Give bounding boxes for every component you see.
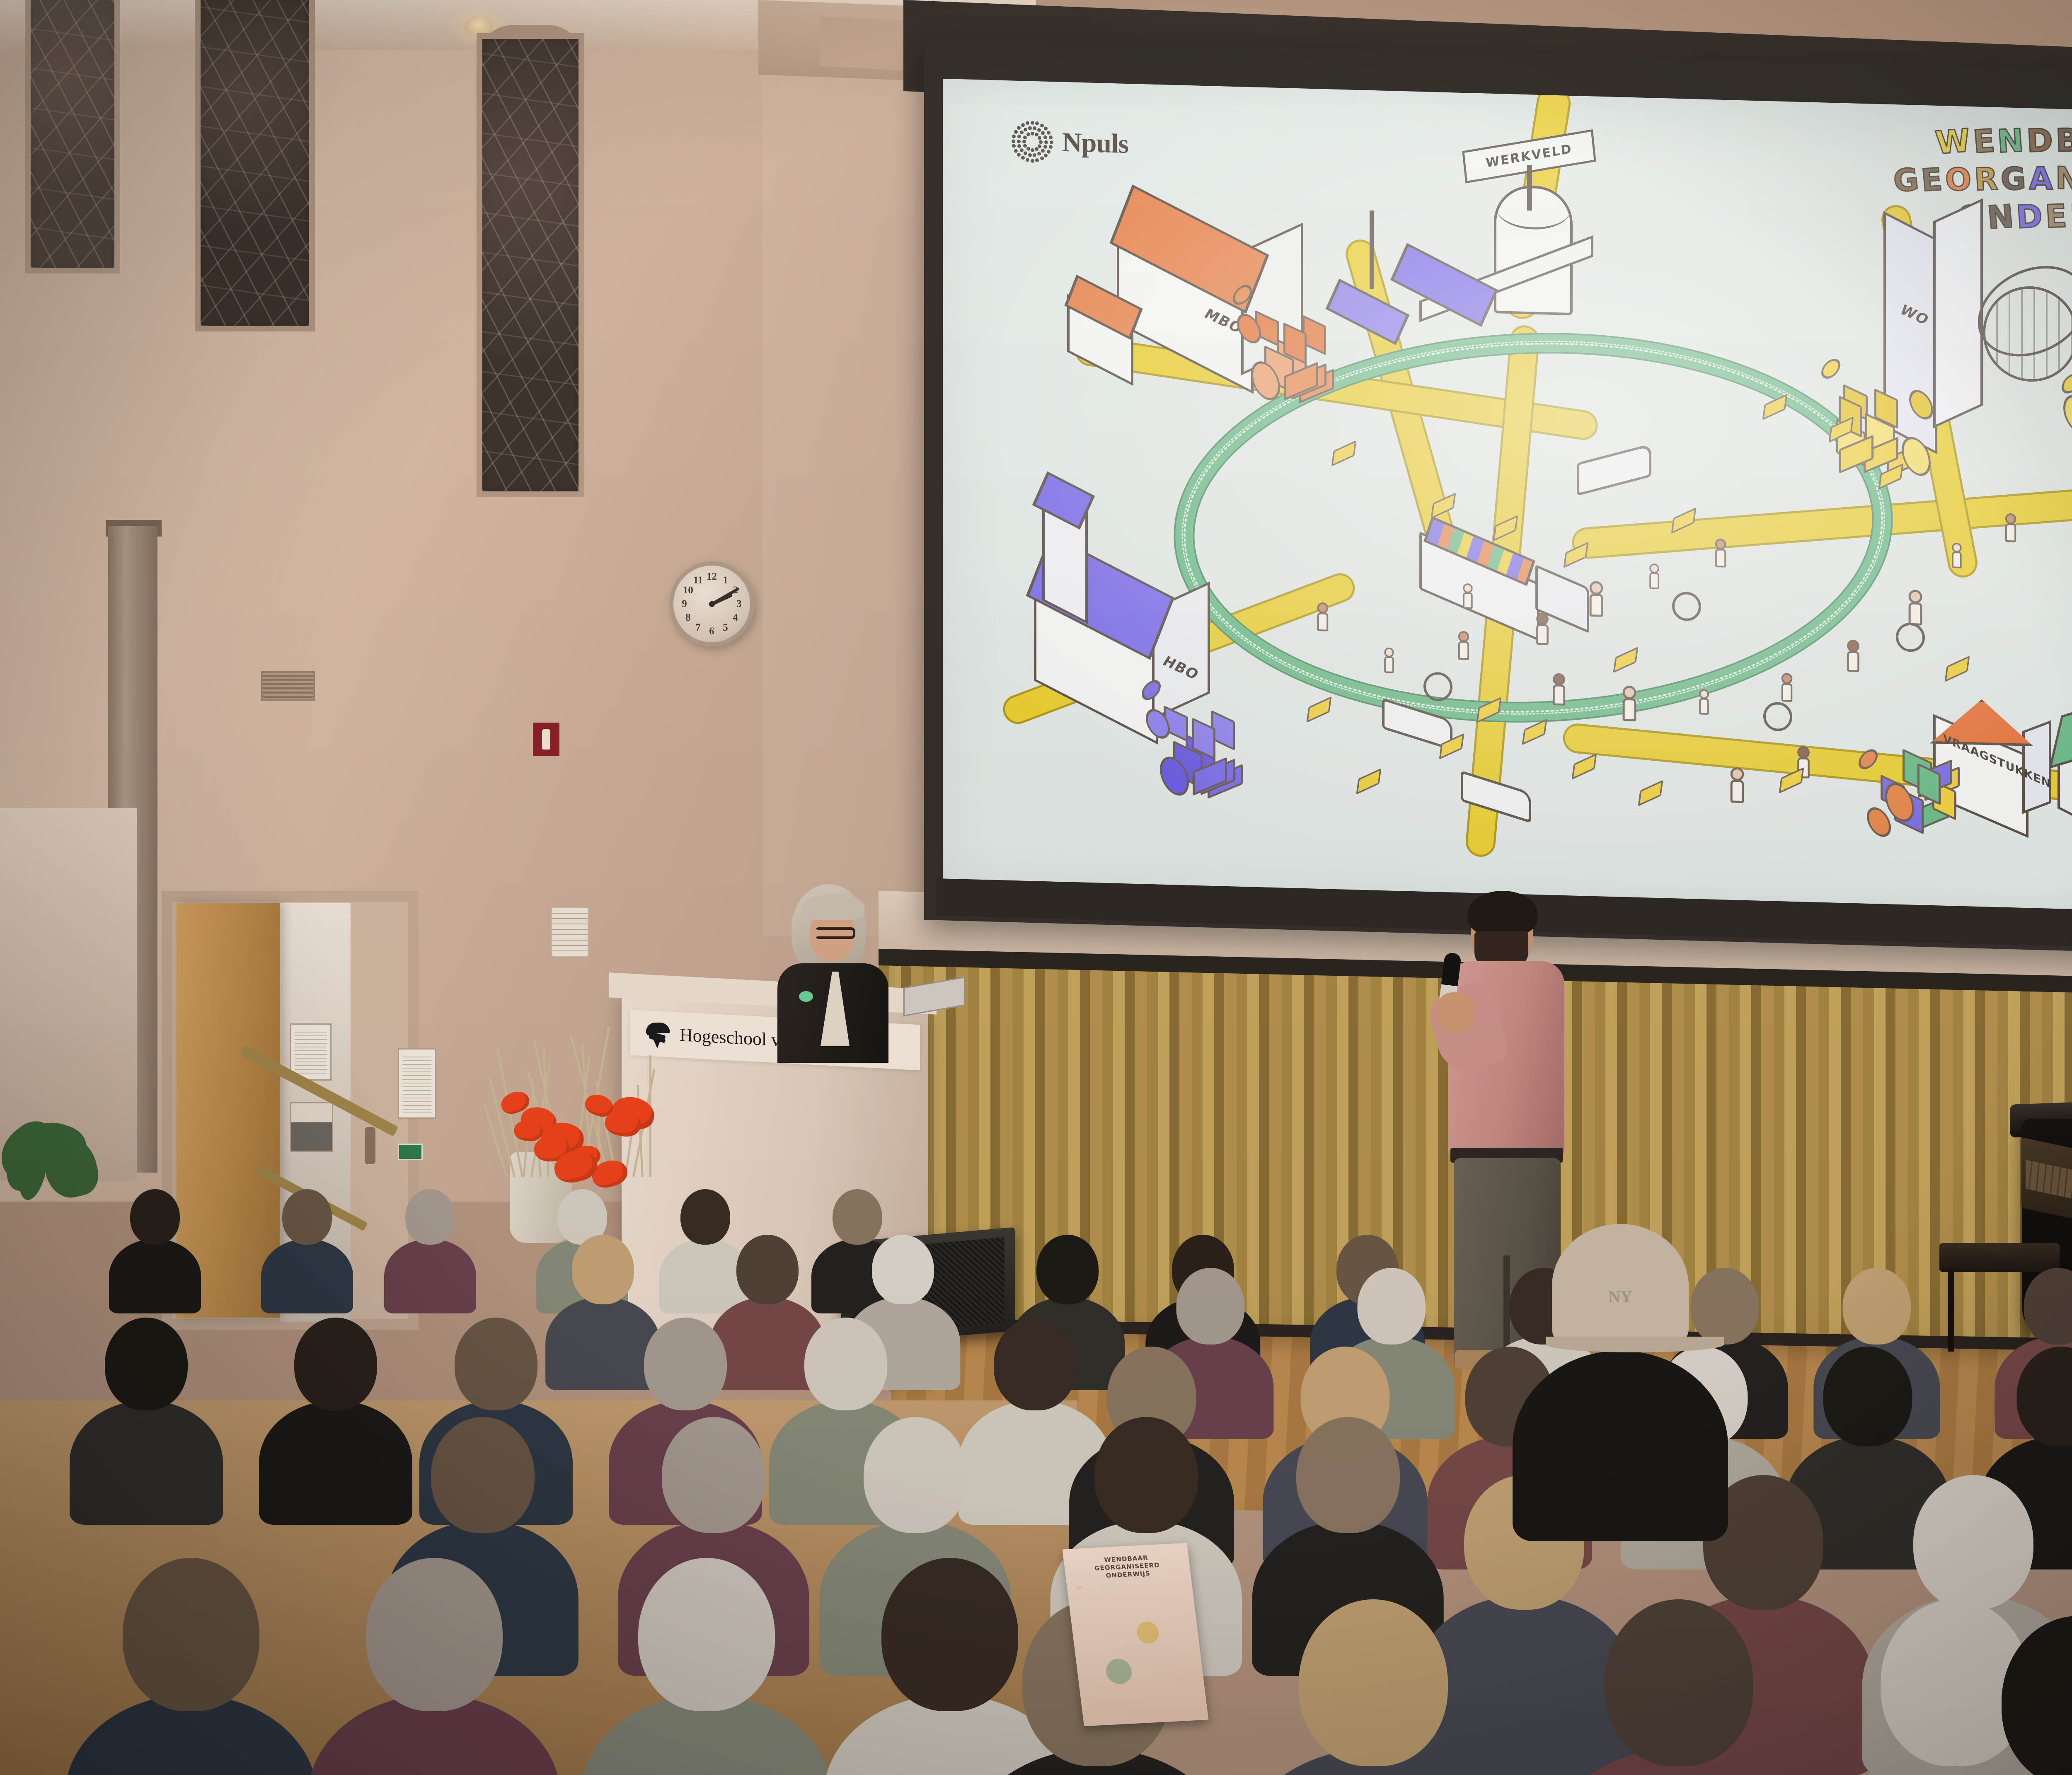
audience-member-head xyxy=(1176,1268,1244,1345)
clock-numeral-5: 5 xyxy=(719,622,733,633)
audience-member-head xyxy=(638,1558,775,1711)
slide-figure xyxy=(1316,602,1330,635)
slide-figure xyxy=(1698,689,1711,718)
clock-numeral-6: 6 xyxy=(705,626,719,637)
slide-title-line-1: WENDBAAR xyxy=(1803,118,2072,162)
audience-member-head xyxy=(662,1417,765,1533)
slide-figure-head xyxy=(1715,539,1726,550)
audience-member xyxy=(576,1558,836,1775)
slide-figure-head xyxy=(1797,746,1810,758)
cap-logo-ny: NY xyxy=(1608,1289,1632,1305)
audience-member-head xyxy=(294,1318,377,1410)
slide-figure-head xyxy=(1649,563,1659,573)
slide-figure xyxy=(1621,685,1639,725)
moderator-glasses xyxy=(815,927,855,939)
slide-figure-head xyxy=(1536,612,1549,625)
slide-figure-head xyxy=(1699,689,1709,699)
audience-member-head xyxy=(366,1558,503,1711)
stained-glass-window-3 xyxy=(477,33,584,497)
audience-member xyxy=(383,1189,477,1313)
slide-figure-body xyxy=(2005,523,2016,542)
wall-clock: 121234567891011 xyxy=(669,561,754,646)
audience-member-with-cap: NY xyxy=(1508,1226,1732,1541)
slide-figure-body xyxy=(1384,656,1394,673)
slide-wheel xyxy=(1896,622,1925,652)
paving-stone xyxy=(1638,780,1663,806)
slide-figure xyxy=(1780,673,1794,705)
audience-member-head xyxy=(455,1318,537,1410)
audience-member-shoulders xyxy=(109,1239,201,1313)
baseball-cap: NY xyxy=(1552,1224,1689,1348)
moderator-badge xyxy=(799,991,813,1002)
audience-member-head xyxy=(736,1235,799,1304)
audience-member-head xyxy=(864,1417,967,1533)
slide-figure-head xyxy=(1909,590,1922,604)
slide-figure-head xyxy=(1847,640,1859,652)
fire-extinguisher-icon xyxy=(531,721,561,757)
slide-figure-body xyxy=(1909,602,1922,625)
audience-member xyxy=(304,1558,564,1775)
clock-numeral-7: 7 xyxy=(691,622,705,633)
clock-numeral-12: 12 xyxy=(705,571,719,582)
audience-member-head xyxy=(644,1318,727,1410)
slide-wheel xyxy=(1423,672,1452,701)
audience-member xyxy=(108,1189,202,1313)
audience-member-head xyxy=(1296,1417,1400,1533)
audience-member-shoulders xyxy=(70,1400,223,1525)
stained-glass-window-2 xyxy=(195,0,315,331)
slide-figure-head xyxy=(1317,602,1329,614)
audience-member xyxy=(1232,1599,1515,1775)
clock-numeral-3: 3 xyxy=(732,599,746,609)
slide-figure-body xyxy=(1649,573,1659,589)
slide-figure-head xyxy=(1463,583,1472,593)
audience-member xyxy=(1537,1599,1820,1775)
slide-figure-body xyxy=(1536,624,1549,645)
slide-figure-body xyxy=(1847,651,1859,672)
slide-figure-body xyxy=(1952,551,1961,568)
audience-member xyxy=(260,1189,354,1313)
slide-figure-head xyxy=(2005,513,2016,525)
door-notice-2 xyxy=(290,1102,333,1152)
cap-brim xyxy=(1546,1337,1724,1352)
block-cluster-mixed xyxy=(1859,750,1962,840)
speaker-hair xyxy=(1468,891,1537,936)
slide-figure xyxy=(1951,543,1963,571)
slide-figure xyxy=(1588,581,1605,621)
slide-figure xyxy=(1845,640,1861,676)
block-cluster-yellow xyxy=(1821,359,1946,479)
audience-member-head xyxy=(994,1318,1077,1410)
stained-glass-window-1 xyxy=(25,0,120,273)
slide-figure-body xyxy=(1731,780,1744,803)
audience-member-head xyxy=(1357,1268,1426,1345)
slide-title-line-2: GEORGANISEERD xyxy=(1821,157,2072,200)
npuls-logo: Npuls xyxy=(1013,122,1128,164)
slide-figure-body xyxy=(1553,684,1565,706)
moderator-fringe xyxy=(802,894,864,920)
block-cluster-yellow-2 xyxy=(2062,374,2072,485)
slide-figure-body xyxy=(1463,592,1472,609)
audience-member-head xyxy=(1823,1347,1912,1446)
audience-member-head xyxy=(572,1235,634,1304)
presentation-photo-scene: 121234567891011 Npuls WENDBAAR GEORGANIS… xyxy=(0,0,2072,1775)
audience-member xyxy=(1932,1616,2072,1775)
handout-title: WENDBAAR GEORGANISEERD ONDERWIJS xyxy=(1071,1553,1183,1582)
paving-stone xyxy=(1571,753,1597,780)
audience-member-head xyxy=(431,1417,535,1533)
slide-figure xyxy=(1535,612,1551,649)
wind-turbine xyxy=(1370,210,1374,289)
door-notice-3 xyxy=(398,1048,436,1119)
door-handle[interactable] xyxy=(365,1127,375,1164)
emergency-exit-icon xyxy=(398,1144,423,1160)
audience-member-head xyxy=(123,1558,259,1711)
audience-member-head xyxy=(2002,1616,2072,1775)
audience-member-head xyxy=(130,1189,180,1245)
slide-figure-body xyxy=(1715,549,1726,568)
speaker-hand xyxy=(1436,992,1474,1032)
clock-numeral-11: 11 xyxy=(691,575,705,585)
slide-figure-head xyxy=(1731,767,1744,781)
block-cluster-orange xyxy=(1233,285,1341,404)
audience-member-head xyxy=(804,1318,887,1410)
slide-figure-body xyxy=(1623,698,1636,721)
paving-stone xyxy=(1306,696,1331,723)
clock-numeral-1: 1 xyxy=(719,575,733,585)
audience-member-head xyxy=(1842,1268,1911,1345)
paving-stone xyxy=(1356,768,1381,795)
slide-figure-head xyxy=(1952,543,1961,553)
wall-vent-grille xyxy=(261,671,315,701)
slide-figure-body xyxy=(1458,641,1469,660)
paving-stone xyxy=(1944,655,1970,682)
audience-member-shoulders xyxy=(384,1239,476,1313)
clock-center-pin xyxy=(709,601,715,607)
slide-figure-head xyxy=(1553,673,1565,686)
slide-figure-body xyxy=(1317,612,1329,631)
slide-wheel xyxy=(1672,592,1701,621)
handout-illustration xyxy=(1077,1581,1197,1710)
moderator xyxy=(762,878,899,1052)
clock-numeral-8: 8 xyxy=(681,612,695,623)
slide-wheel xyxy=(1763,702,1792,732)
projection-screen: Npuls WENDBAAR GEORGANISEERD ONDERWIJS M… xyxy=(943,79,2072,925)
audience-member-head xyxy=(105,1318,188,1410)
slide-figure xyxy=(1462,583,1474,612)
paving-stone xyxy=(1522,719,1547,745)
audience-member-head xyxy=(405,1189,455,1245)
slide-figure-body xyxy=(1590,594,1603,617)
slide-figure-head xyxy=(1590,581,1603,595)
audience-member-head xyxy=(1604,1599,1753,1766)
audience-member-head xyxy=(872,1235,934,1304)
npuls-dotted-ring-icon xyxy=(1013,122,1051,161)
slide-figure-body xyxy=(1782,683,1793,702)
audience-member-head xyxy=(1913,1475,2033,1610)
door-notice-1 xyxy=(290,1023,332,1081)
slide-figure-head xyxy=(1458,631,1469,642)
slide-figure-head xyxy=(1782,673,1793,684)
clock-numeral-10: 10 xyxy=(681,585,695,596)
audience-member-head xyxy=(2024,1268,2072,1345)
printed-handout: WENDBAAR GEORGANISEERD ONDERWIJS xyxy=(1063,1543,1209,1727)
block-cluster-purple xyxy=(1142,681,1249,800)
npuls-wordmark: Npuls xyxy=(1062,129,1128,158)
audience-member-head xyxy=(1036,1235,1099,1304)
audience-member-head xyxy=(1094,1417,1198,1533)
audience-member-shoulders xyxy=(261,1239,353,1313)
slide-figure-body xyxy=(1699,698,1709,715)
slide-figure-head xyxy=(1623,686,1636,700)
wall-notice xyxy=(551,907,588,957)
slide-figure xyxy=(2004,513,2018,546)
clock-numeral-9: 9 xyxy=(678,599,692,609)
potted-plant xyxy=(0,949,104,1173)
slide-figure xyxy=(1728,767,1746,807)
slide-figure xyxy=(1551,673,1567,709)
audience-member-shoulders xyxy=(1513,1351,1728,1541)
audience-member xyxy=(68,1318,225,1525)
audience-member xyxy=(61,1558,321,1775)
audience-member-head xyxy=(1299,1599,1448,1766)
clock-numeral-4: 4 xyxy=(729,612,743,623)
slide-figure xyxy=(1648,563,1661,592)
slide-figure-head xyxy=(1384,648,1394,658)
slide-figure xyxy=(1383,648,1396,676)
audience-member-head xyxy=(2017,1347,2072,1446)
slide-figure xyxy=(1457,631,1471,663)
audience-member-head xyxy=(282,1189,332,1245)
slide-figure xyxy=(1714,539,1728,571)
werkveld-sign-post xyxy=(1527,165,1532,210)
